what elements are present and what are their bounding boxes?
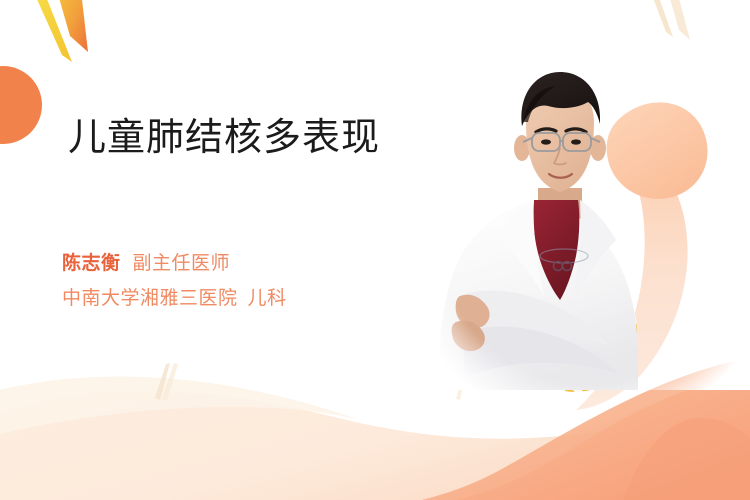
- page-title: 儿童肺结核多表现: [68, 116, 380, 162]
- affiliation-line: 中南大学湘雅三医院儿科: [62, 285, 287, 313]
- slide-canvas: 儿童肺结核多表现 陈志衡副主任医师 中南大学湘雅三医院儿科: [0, 0, 750, 500]
- presenter-role: 副主任医师: [133, 253, 231, 274]
- affiliation-institution: 中南大学湘雅三医院: [62, 288, 238, 309]
- affiliation-department: 儿科: [248, 288, 287, 309]
- presenter-name: 陈志衡: [62, 253, 121, 274]
- text-layer: 儿童肺结核多表现 陈志衡副主任医师 中南大学湘雅三医院儿科: [0, 0, 750, 500]
- presenter-line: 陈志衡副主任医师: [62, 250, 230, 278]
